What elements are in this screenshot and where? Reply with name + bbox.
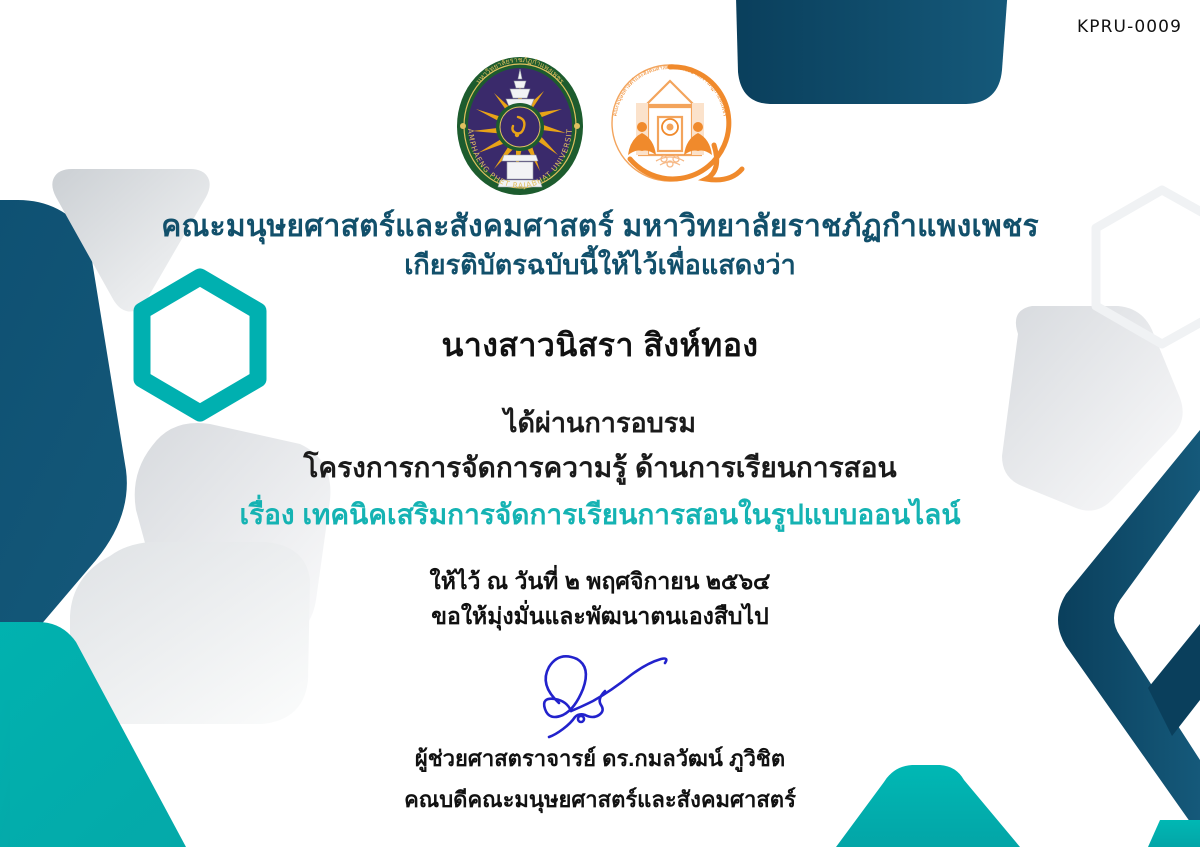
- completion-text: ได้ผ่านการอบรม: [0, 406, 1200, 441]
- certificate-page: KPRU-0009: [0, 0, 1200, 847]
- university-seal-logo: มหาวิทยาลัยราชภัฏกำแพงเพชร KAMPHAENG PHE…: [452, 55, 588, 197]
- serial-number: KPRU-0009: [1077, 17, 1182, 37]
- signature-block: ผู้ช่วยศาสตราจารย์ ดร.กมลวัฒน์ ภูวิชิต ค…: [0, 645, 1200, 817]
- certificate-content: คณะมนุษยศาสตร์และสังคมศาสตร์ มหาวิทยาลัย…: [0, 208, 1200, 631]
- shape-bottom-right-teal: [1148, 820, 1200, 847]
- recipient-name: นางสาวนิสรา สิงห์ทอง: [0, 325, 1200, 366]
- signer-name: ผู้ช่วยศาสตราจารย์ ดร.กมลวัฒน์ ภูวิชิต: [0, 741, 1200, 776]
- organization-line: คณะมนุษยศาสตร์และสังคมศาสตร์ มหาวิทยาลัย…: [0, 208, 1200, 246]
- faculty-emblem-logo: คณะมนุษยศาสตร์และสังคมศาสตร์ มหาวิทยาลัย…: [602, 59, 748, 193]
- program-name: โครงการการจัดการความรู้ ด้านการเรียนการส…: [0, 450, 1200, 486]
- svg-text:คณะมนุษยศาสตร์และสังคมศาสตร์: คณะมนุษยศาสตร์และสังคมศาสตร์ มหาวิทยาลัย…: [612, 64, 728, 117]
- signer-title: คณบดีคณะมนุษยศาสตร์และสังคมศาสตร์: [0, 782, 1200, 817]
- issue-statement: เกียรติบัตรฉบับนี้ให้ไว้เพื่อแสดงว่า: [0, 248, 1200, 283]
- wish-line: ขอให้มุ่งมั่นและพัฒนาตนเองสืบไป: [0, 602, 1200, 631]
- handwritten-signature: [515, 645, 685, 740]
- issue-date: ให้ไว้ ณ วันที่ ๒ พฤศจิกายน ๒๕๖๔: [0, 567, 1200, 596]
- topic-name: เรื่อง เทคนิคเสริมการจัดการเรียนการสอนใน…: [0, 497, 1200, 533]
- logo-row: มหาวิทยาลัยราชภัฏกำแพงเพชร KAMPHAENG PHE…: [0, 55, 1200, 197]
